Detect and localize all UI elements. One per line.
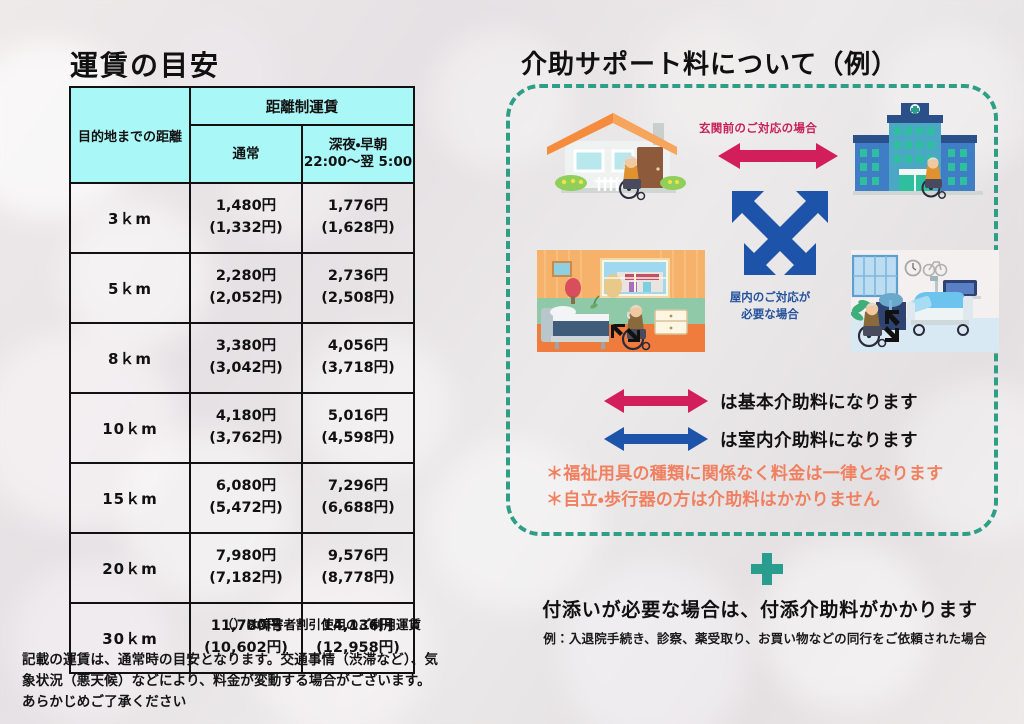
label-indoor-line1: 屋内のご対応が <box>730 290 811 304</box>
late-fare-discount: (1,628円) <box>303 218 413 240</box>
hospital-illustration <box>853 103 983 203</box>
normal-fare-discount: (7,182円) <box>191 568 301 590</box>
late-fare-discount: (8,778円) <box>303 568 413 590</box>
normal-fare-discount: (5,472円) <box>191 498 301 520</box>
crimson-double-arrow-entrance <box>718 140 838 172</box>
fare-table: 目的地までの距離 距離制運賃 通常 深夜・早朝 22:00〜翌 5:00 3ｋm… <box>69 86 415 674</box>
late-fare-main: 1,776円 <box>303 196 413 218</box>
label-indoor-line2: 必要な場合 <box>741 307 799 321</box>
col-header-late-night-line1: 深夜・早朝 <box>329 137 388 153</box>
cell-normal-fare: 1,480円 (1,332円) <box>190 183 302 253</box>
house-illustration <box>525 103 710 203</box>
table-header-row-top: 目的地までの距離 距離制運賃 <box>70 87 414 125</box>
late-fare-main: 7,296円 <box>303 476 413 498</box>
cell-normal-fare: 4,180円 (3,762円) <box>190 393 302 463</box>
cell-late-fare: 9,576円 (8,778円) <box>302 533 414 603</box>
cell-normal-fare: 2,280円 (2,052円) <box>190 253 302 323</box>
legend-block: は基本介助料になります は室内介助料になります <box>604 382 994 458</box>
right-section-title: 介助サポート料について（例） <box>521 44 898 81</box>
table-row: 8ｋm 3,380円 (3,042円) 4,056円 (3,718円) <box>70 323 414 393</box>
legend-label-indoor: は室内介助料になります <box>720 427 918 452</box>
orange-note-1: ＊福祉用具の種類に関係なく料金は一律となります <box>546 461 996 487</box>
cell-late-fare: 7,296円 (6,688円) <box>302 463 414 533</box>
late-fare-discount: (6,688円) <box>303 498 413 520</box>
legend-label-basic: は基本介助料になります <box>720 389 918 414</box>
normal-fare-discount: (3,762円) <box>191 428 301 450</box>
bedroom-illustration <box>537 250 705 352</box>
left-section-title: 運賃の目安 <box>70 44 220 84</box>
fare-table-footnote: （）は障害者割引使用のご利用運賃 <box>69 614 421 633</box>
late-fare-main: 9,576円 <box>303 546 413 568</box>
normal-fare-main: 2,280円 <box>191 266 301 288</box>
table-row: 5ｋm 2,280円 (2,052円) 2,736円 (2,508円) <box>70 253 414 323</box>
cell-late-fare: 5,016円 (4,598円) <box>302 393 414 463</box>
blue-crossed-arrows <box>728 187 832 291</box>
green-plus-icon <box>749 551 785 587</box>
normal-fare-main: 4,180円 <box>191 406 301 428</box>
fare-table-head: 目的地までの距離 距離制運賃 通常 深夜・早朝 22:00〜翌 5:00 <box>70 87 414 183</box>
cell-late-fare: 1,776円 (1,628円) <box>302 183 414 253</box>
normal-fare-discount: (1,332円) <box>191 218 301 240</box>
late-fare-main: 2,736円 <box>303 266 413 288</box>
cell-normal-fare: 3,380円 (3,042円) <box>190 323 302 393</box>
normal-fare-discount: (2,052円) <box>191 288 301 310</box>
cell-distance: 3ｋm <box>70 183 190 253</box>
normal-fare-main: 7,980円 <box>191 546 301 568</box>
legend-row-basic: は基本介助料になります <box>604 382 994 420</box>
cell-normal-fare: 7,980円 (7,182円) <box>190 533 302 603</box>
cell-distance: 10ｋm <box>70 393 190 463</box>
cell-distance: 5ｋm <box>70 253 190 323</box>
late-fare-main: 4,056円 <box>303 336 413 358</box>
label-entrance-case: 玄関前のご対応の場合 <box>699 120 817 136</box>
orange-notes-block: ＊福祉用具の種類に関係なく料金は一律となります ＊自立・歩行器の方は介助料はかか… <box>546 461 996 514</box>
table-row: 15ｋm 6,080円 (5,472円) 7,296円 (6,688円) <box>70 463 414 533</box>
late-fare-discount: (3,718円) <box>303 358 413 380</box>
normal-fare-main: 3,380円 <box>191 336 301 358</box>
col-header-distance: 目的地までの距離 <box>70 87 190 183</box>
normal-fare-main: 1,480円 <box>191 196 301 218</box>
hospital-room-illustration <box>851 250 999 352</box>
cell-normal-fare: 6,080円 (5,472円) <box>190 463 302 533</box>
col-header-normal: 通常 <box>190 125 302 183</box>
cell-late-fare: 4,056円 (3,718円) <box>302 323 414 393</box>
crimson-double-arrow-icon <box>604 387 708 415</box>
col-header-late-night-line2: 22:00〜翌 5:00 <box>304 154 412 170</box>
late-fare-discount: (2,508円) <box>303 288 413 310</box>
fare-disclaimer-text: 記載の運賃は、通常時の目安となります。交通事情（渋滞など）、気象状況（悪天候）な… <box>22 650 442 713</box>
bottom-sub-text: 例：入退院手続き、診察、薬受取り、お買い物などの同行をご依頼された場合 <box>520 628 1010 647</box>
blue-double-arrow-icon <box>604 425 708 453</box>
cell-late-fare: 2,736円 (2,508円) <box>302 253 414 323</box>
late-fare-discount: (4,598円) <box>303 428 413 450</box>
col-header-group: 距離制運賃 <box>190 87 414 125</box>
cell-distance: 8ｋm <box>70 323 190 393</box>
table-row: 10ｋm 4,180円 (3,762円) 5,016円 (4,598円) <box>70 393 414 463</box>
late-fare-main: 5,016円 <box>303 406 413 428</box>
bottom-main-text: 付添いが必要な場合は、付添介助料がかかります <box>520 595 1000 622</box>
col-header-late-night: 深夜・早朝 22:00〜翌 5:00 <box>302 125 414 183</box>
table-row: 20ｋm 7,980円 (7,182円) 9,576円 (8,778円) <box>70 533 414 603</box>
legend-row-indoor: は室内介助料になります <box>604 420 994 458</box>
cell-distance: 15ｋm <box>70 463 190 533</box>
fare-table-body: 3ｋm 1,480円 (1,332円) 1,776円 (1,628円) 5ｋm … <box>70 183 414 673</box>
cell-distance: 20ｋm <box>70 533 190 603</box>
normal-fare-main: 6,080円 <box>191 476 301 498</box>
normal-fare-discount: (3,042円) <box>191 358 301 380</box>
orange-note-2: ＊自立・歩行器の方は介助料はかかりません <box>546 487 996 513</box>
label-indoor-case: 屋内のご対応が 必要な場合 <box>716 289 824 322</box>
table-row: 3ｋm 1,480円 (1,332円) 1,776円 (1,628円) <box>70 183 414 253</box>
